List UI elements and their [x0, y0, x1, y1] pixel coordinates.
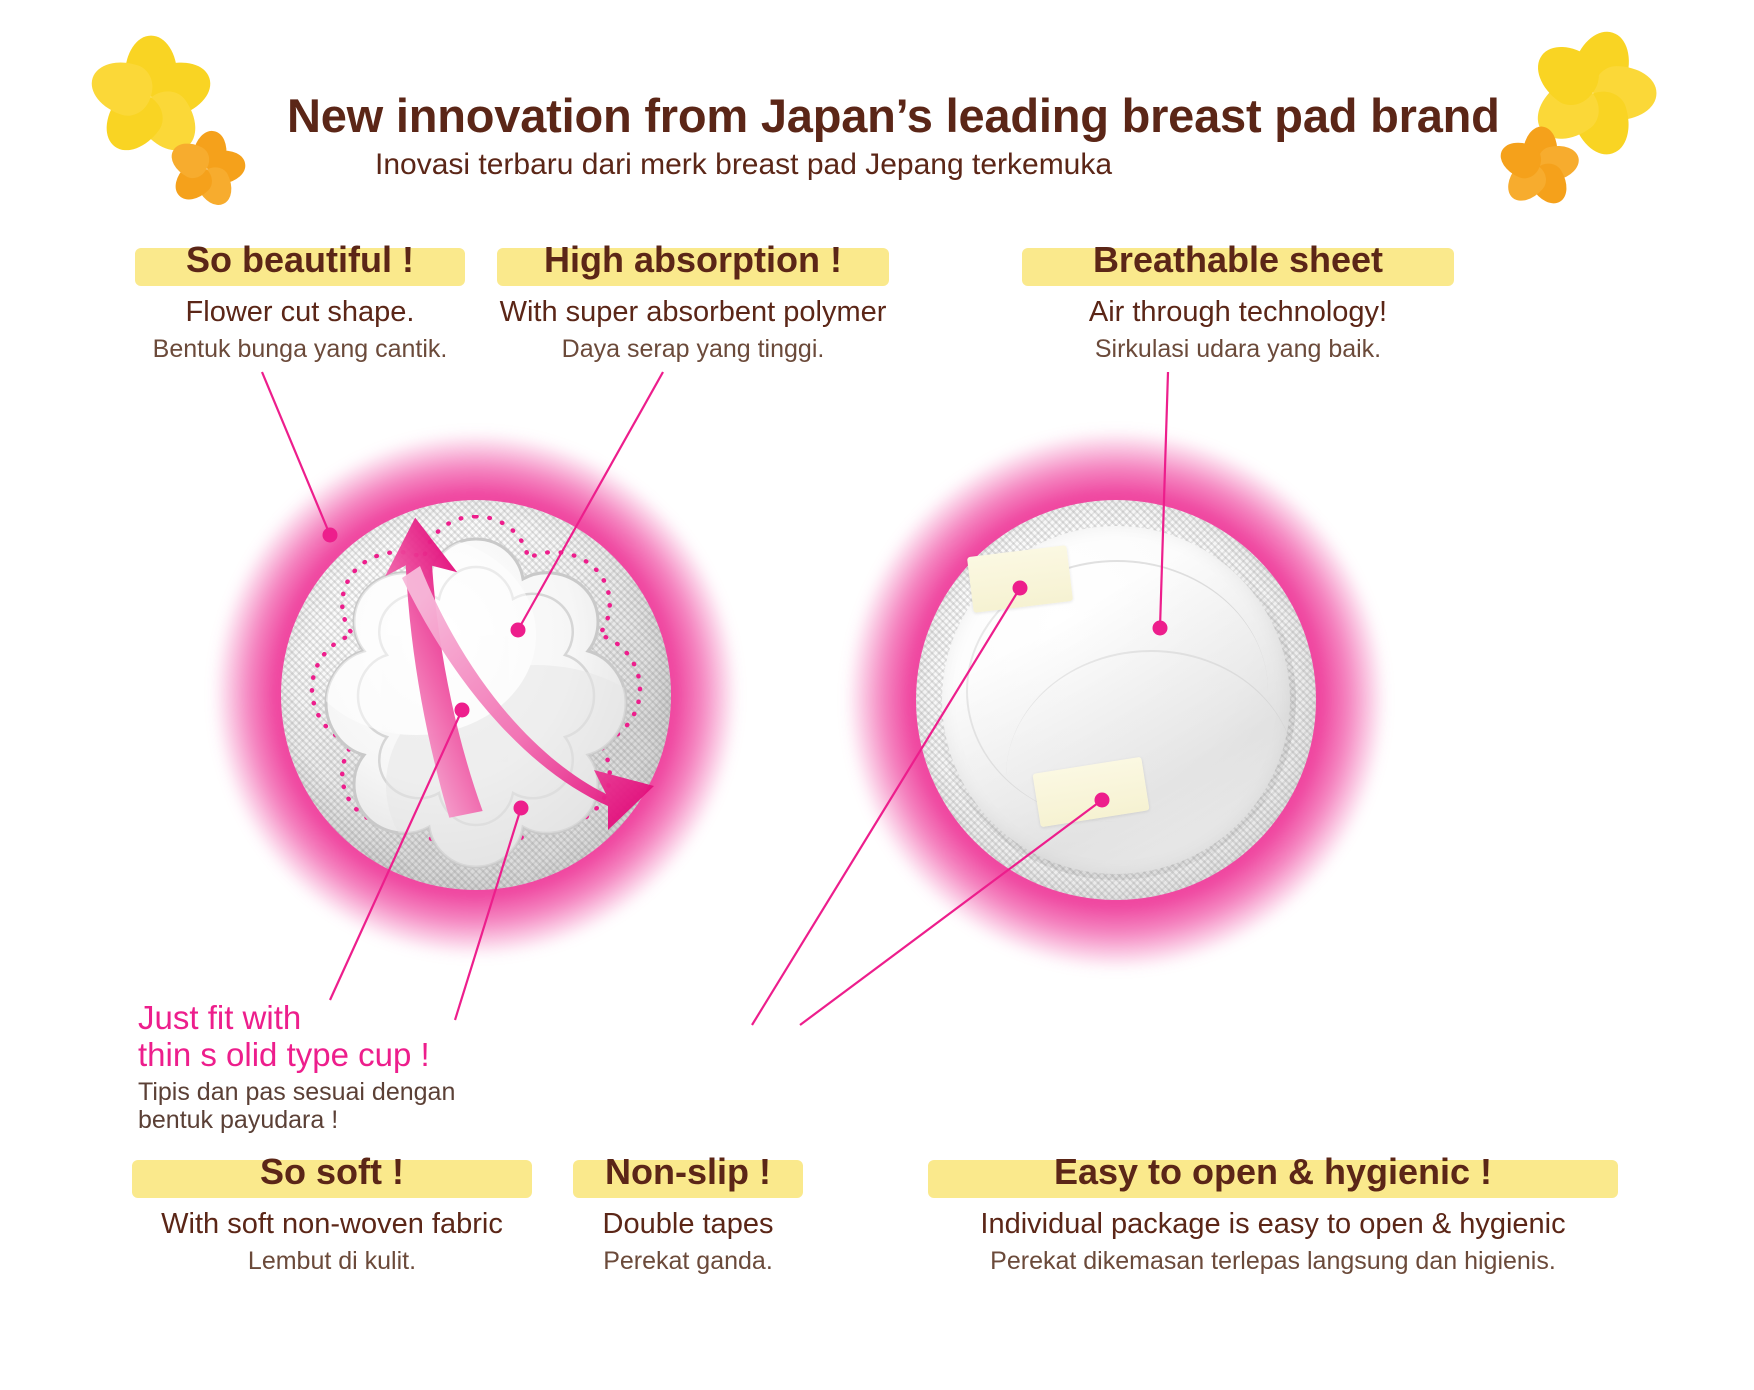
feature-breathable-sheet: Breathable sheet Air through technology!…	[1022, 240, 1454, 364]
feature-desc-en: With soft non-woven fabric	[132, 1208, 532, 1241]
feature-label: High absorption !	[497, 240, 889, 278]
feature-desc-en: Air through technology!	[1022, 296, 1454, 329]
feature-label: Easy to open & hygienic !	[928, 1152, 1618, 1190]
feature-label: Breathable sheet	[1022, 240, 1454, 278]
feature-desc-id: Bentuk bunga yang cantik.	[135, 335, 465, 364]
feature-desc-id: Daya serap yang tinggi.	[497, 335, 889, 364]
feature-desc-en: With super absorbent polymer	[497, 296, 889, 329]
feature-desc-id: Sirkulasi udara yang baik.	[1022, 335, 1454, 364]
feature-desc-id: Lembut di kulit.	[132, 1247, 532, 1276]
feature-desc-en: Double tapes	[573, 1208, 803, 1241]
highlight-wrap: High absorption !	[497, 240, 889, 286]
highlight-wrap: Breathable sheet	[1022, 240, 1454, 286]
feature-non-slip: Non-slip ! Double tapes Perekat ganda.	[573, 1152, 803, 1276]
feature-desc-en: Flower cut shape.	[135, 296, 465, 329]
highlight-wrap: Easy to open & hygienic !	[928, 1152, 1618, 1198]
feature-high-absorption: High absorption ! With super absorbent p…	[497, 240, 889, 364]
highlight-wrap: So soft !	[132, 1152, 532, 1198]
feature-label: Non-slip !	[573, 1152, 803, 1190]
page-title: New innovation from Japan’s leading brea…	[287, 88, 1500, 143]
callout-line-1: Just fit with	[138, 1000, 455, 1037]
highlight-wrap: Non-slip !	[573, 1152, 803, 1198]
callout-line-4: bentuk payudara !	[138, 1106, 455, 1135]
feature-label: So soft !	[132, 1152, 532, 1190]
infographic-canvas: New innovation from Japan’s leading brea…	[0, 0, 1754, 1390]
absorption-arrow-icon	[360, 500, 680, 880]
feature-desc-id: Perekat dikemasan terlepas langsung dan …	[928, 1247, 1618, 1276]
callout-line-3: Tipis dan pas sesuai dengan	[138, 1078, 455, 1107]
sakura-flower-icon-top-left-small	[170, 132, 244, 206]
feature-label: So beautiful !	[135, 240, 465, 278]
page-subtitle: Inovasi terbaru dari merk breast pad Jep…	[375, 148, 1112, 182]
feature-easy-to-open: Easy to open & hygienic ! Individual pac…	[928, 1152, 1618, 1276]
highlight-wrap: So beautiful !	[135, 240, 465, 286]
callout-line-2: thin s olid type cup !	[138, 1037, 455, 1074]
sakura-flower-icon-top-right-small	[1500, 128, 1578, 206]
feature-desc-en: Individual package is easy to open & hyg…	[928, 1208, 1618, 1241]
feature-so-soft: So soft ! With soft non-woven fabric Lem…	[132, 1152, 532, 1276]
feature-so-beautiful: So beautiful ! Flower cut shape. Bentuk …	[135, 240, 465, 364]
callout-just-fit: Just fit with thin s olid type cup ! Tip…	[138, 1000, 455, 1135]
feature-desc-id: Perekat ganda.	[573, 1247, 803, 1276]
